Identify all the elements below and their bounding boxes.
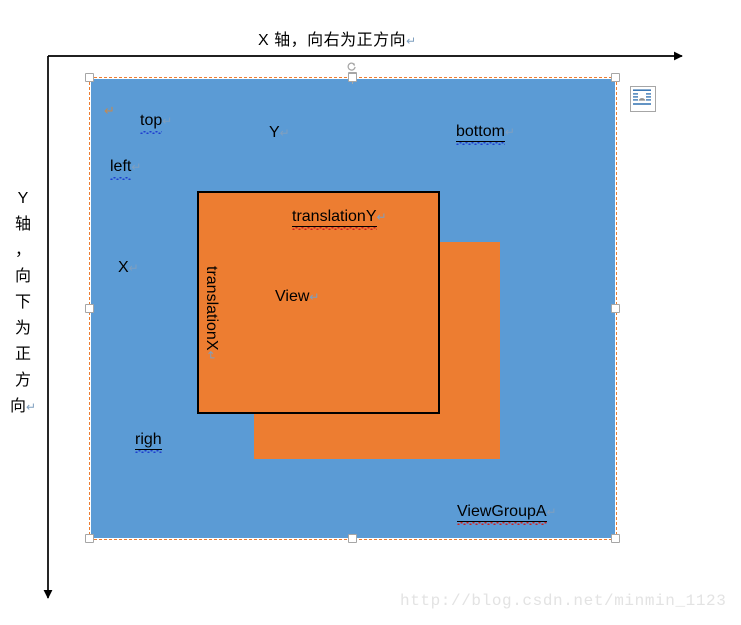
y-axis-title-char: 方 bbox=[8, 368, 38, 394]
label-view: View↵ bbox=[275, 288, 319, 306]
empty-paragraph-mark: ↵ bbox=[104, 103, 115, 119]
pilcrow-icon: ↵ bbox=[505, 125, 515, 139]
y-axis-title-char: 下 bbox=[8, 290, 38, 316]
pilcrow-icon: ↵ bbox=[204, 351, 218, 361]
pilcrow-icon: ↵ bbox=[280, 126, 290, 140]
pilcrow-icon: ↵ bbox=[129, 261, 139, 275]
y-axis-title-char-text: 向 bbox=[10, 398, 26, 415]
label-y-measure-text: Y bbox=[269, 124, 280, 142]
label-left-text: left bbox=[110, 158, 131, 176]
label-y-measure: Y↵ bbox=[269, 124, 290, 142]
y-axis-title-char: Y bbox=[8, 186, 38, 212]
y-axis-title-char: 轴 bbox=[8, 212, 38, 238]
pilcrow-icon: ↵ bbox=[406, 34, 417, 48]
label-left: left↵ bbox=[110, 158, 141, 176]
label-top: top↵ bbox=[140, 112, 172, 130]
label-bottom: bottom↵ bbox=[456, 123, 515, 142]
resize-handle-bottom-left[interactable] bbox=[85, 534, 94, 543]
y-axis-title: Y 轴 ， 向 下 为 正 方 向↵ bbox=[8, 186, 38, 420]
label-x-measure-text: X bbox=[118, 259, 129, 277]
resize-handle-top-left[interactable] bbox=[85, 73, 94, 82]
label-top-text: top bbox=[140, 112, 162, 130]
layout-options-button[interactable] bbox=[630, 86, 656, 112]
y-axis-title-char: ， bbox=[8, 238, 38, 264]
label-translationx-text: translationX bbox=[202, 266, 220, 351]
label-translationx: translationX↵ bbox=[202, 266, 220, 386]
label-translationy-text: translationY bbox=[292, 208, 377, 227]
resize-handle-bottom-right[interactable] bbox=[611, 534, 620, 543]
pilcrow-icon: ↵ bbox=[547, 505, 557, 519]
label-view-text: View bbox=[275, 288, 309, 306]
pilcrow-icon: ↵ bbox=[26, 400, 36, 414]
label-viewgroup-text: ViewGroupA bbox=[457, 503, 547, 522]
diagram-canvas: X 轴，向右为正方向↵ Y 轴 ， 向 下 为 正 方 向↵ ↵ top↵ le… bbox=[0, 0, 741, 625]
pilcrow-icon: ↵ bbox=[131, 160, 141, 174]
label-viewgroup: ViewGroupA↵ bbox=[457, 503, 557, 522]
resize-handle-top-right[interactable] bbox=[611, 73, 620, 82]
y-axis-title-char: 正 bbox=[8, 342, 38, 368]
resize-handle-middle-right[interactable] bbox=[611, 304, 620, 313]
resize-handle-bottom-center[interactable] bbox=[348, 534, 357, 543]
watermark: http://blog.csdn.net/minmin_1123 bbox=[400, 592, 726, 610]
layout-options-icon bbox=[631, 87, 653, 109]
x-axis-title: X 轴，向右为正方向↵ bbox=[258, 26, 417, 50]
y-axis-title-char: 向 bbox=[8, 264, 38, 290]
x-axis-title-text: X 轴，向右为正方向 bbox=[258, 32, 406, 49]
resize-handle-middle-left[interactable] bbox=[85, 304, 94, 313]
y-axis-title-char: 向↵ bbox=[8, 394, 38, 420]
pilcrow-icon: ↵ bbox=[309, 290, 319, 304]
label-right: righ bbox=[135, 431, 162, 450]
resize-handle-top-center[interactable] bbox=[348, 73, 357, 82]
label-right-text: righ bbox=[135, 431, 162, 450]
label-translationy: translationY↵ bbox=[292, 208, 387, 227]
y-axis-title-char: 为 bbox=[8, 316, 38, 342]
label-bottom-text: bottom bbox=[456, 123, 505, 142]
pilcrow-icon: ↵ bbox=[377, 210, 387, 224]
label-x-measure: X↵ bbox=[118, 259, 139, 277]
pilcrow-icon: ↵ bbox=[162, 114, 172, 128]
